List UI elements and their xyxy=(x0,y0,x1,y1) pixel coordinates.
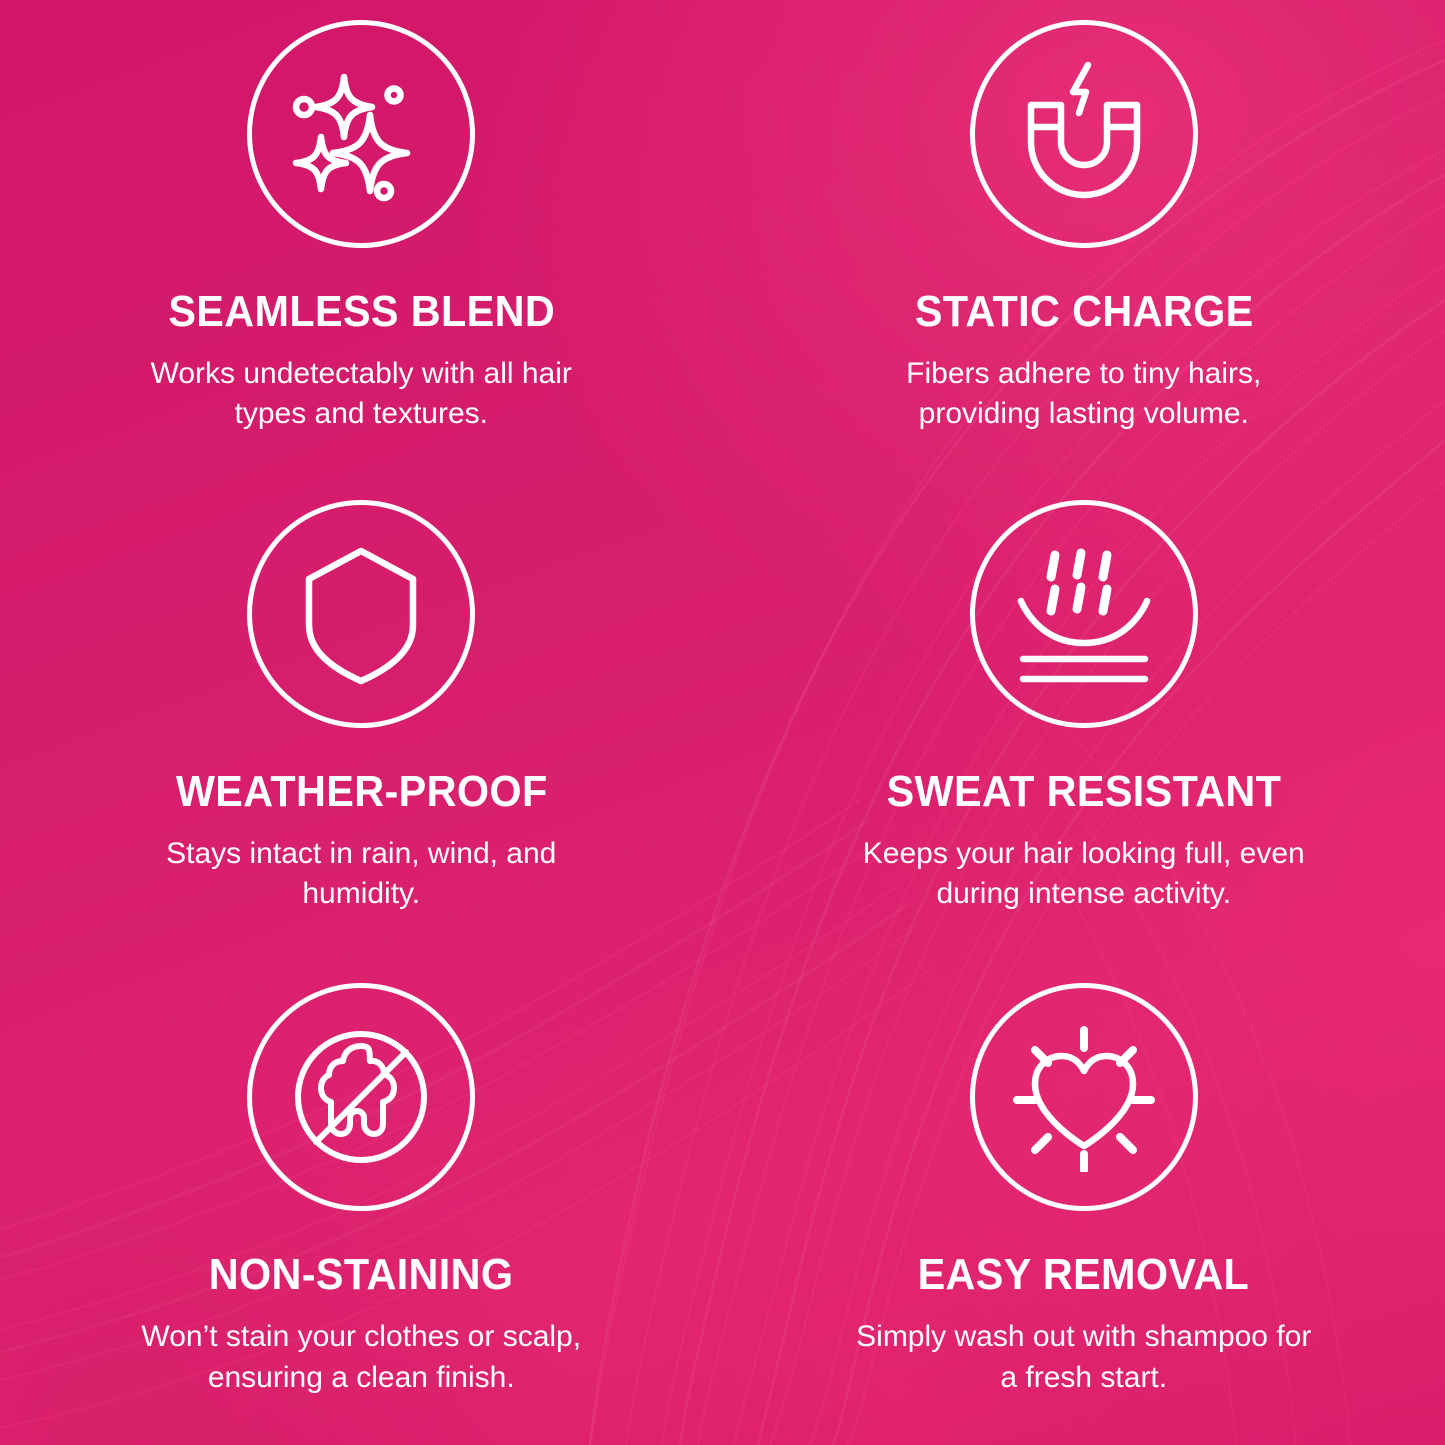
feature-description: Fibers adhere to tiny hairs, providing l… xyxy=(849,354,1319,434)
magnet-static-icon xyxy=(970,20,1198,248)
feature-card-easy-removal: EASY REMOVAL Simply wash out with shampo… xyxy=(723,963,1445,1445)
feature-title: STATIC CHARGE xyxy=(914,290,1253,334)
feature-card-non-staining: NON-STAINING Won’t stain your clothes or… xyxy=(0,963,723,1445)
feature-card-weather-proof: WEATHER-PROOF Stays intact in rain, wind… xyxy=(0,482,723,964)
feature-title: SWEAT RESISTANT xyxy=(886,770,1281,814)
feature-description: Works undetectably with all hair types a… xyxy=(126,354,596,434)
feature-card-static-charge: STATIC CHARGE Fibers adhere to tiny hair… xyxy=(723,0,1445,482)
feature-card-sweat-resistant: SWEAT RESISTANT Keeps your hair looking … xyxy=(723,482,1445,964)
sparkles-icon xyxy=(247,20,475,248)
feature-title: NON-STAINING xyxy=(209,1253,514,1297)
feature-title: EASY REMOVAL xyxy=(918,1253,1250,1297)
feature-description: Won’t stain your clothes or scalp, ensur… xyxy=(126,1317,596,1397)
feature-description: Keeps your hair looking full, even durin… xyxy=(849,834,1319,914)
product-feature-infographic: SEAMLESS BLEND Works undetectably with a… xyxy=(0,0,1445,1445)
shield-icon xyxy=(247,500,475,728)
feature-card-seamless-blend: SEAMLESS BLEND Works undetectably with a… xyxy=(0,0,723,482)
feature-title: SEAMLESS BLEND xyxy=(168,290,555,334)
sweat-droplets-icon xyxy=(970,500,1198,728)
feature-title: WEATHER-PROOF xyxy=(175,770,547,814)
feature-description: Simply wash out with shampoo for a fresh… xyxy=(849,1317,1319,1397)
no-stain-icon xyxy=(247,983,475,1211)
feature-description: Stays intact in rain, wind, and humidity… xyxy=(126,834,596,914)
shining-heart-icon xyxy=(970,983,1198,1211)
feature-grid: SEAMLESS BLEND Works undetectably with a… xyxy=(0,0,1445,1445)
